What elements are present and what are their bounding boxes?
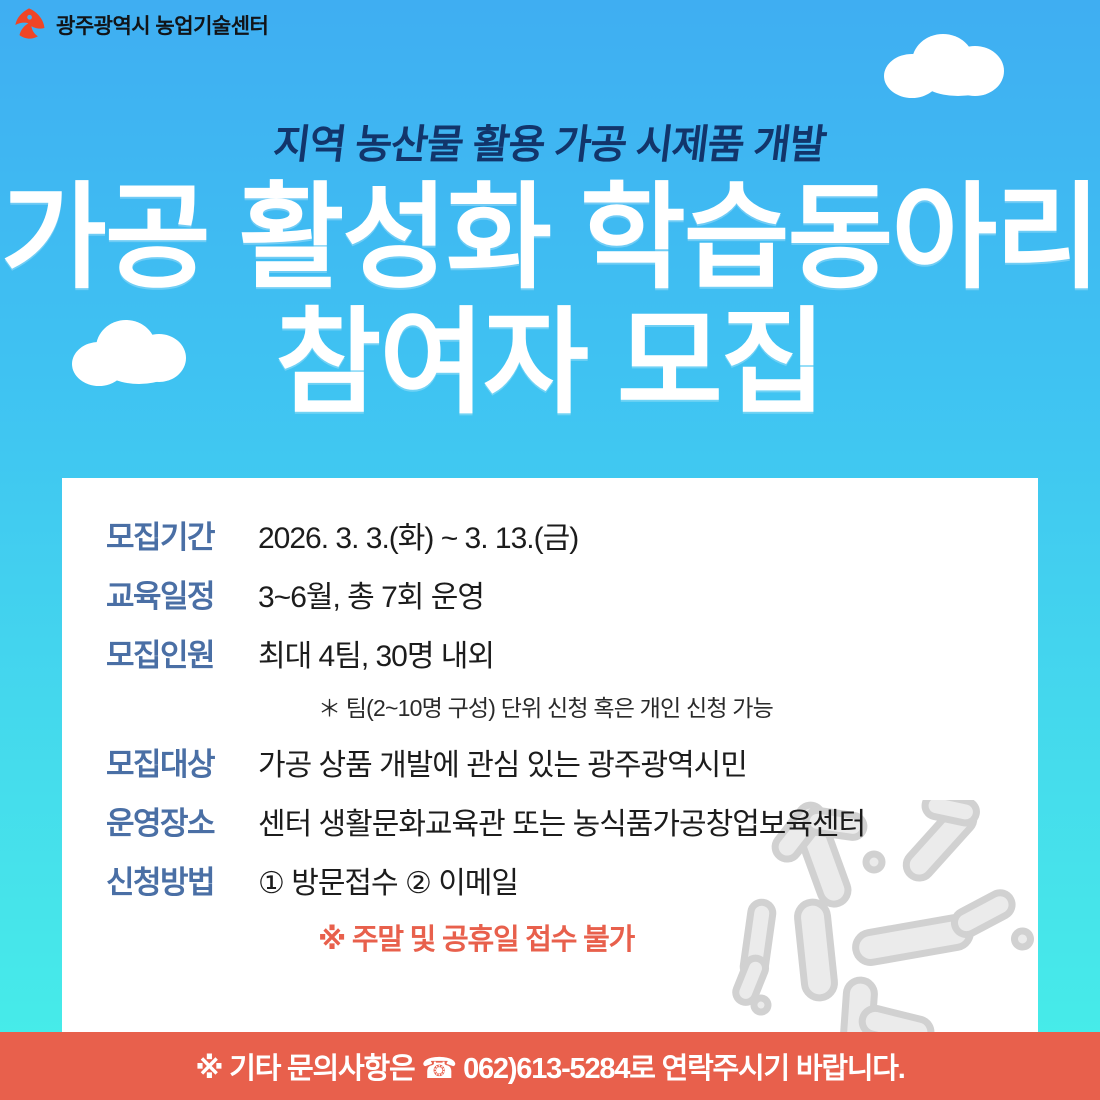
poster-canvas: 광주광역시 농업기술센터 지역 농산물 활용 가공 시제품 개발 가공 활성화 … [0, 0, 1100, 1100]
info-row-target: 모집대상 가공 상품 개발에 관심 있는 광주광역시민 [62, 739, 1038, 784]
info-rows: 모집기간 2026. 3. 3.(화) ~ 3. 13.(금) 교육일정 3~6… [62, 478, 1038, 958]
brand-header: 광주광역시 농업기술센터 [10, 6, 268, 44]
info-label: 모집인원 [106, 630, 258, 675]
info-row-education-schedule: 교육일정 3~6월, 총 7회 운영 [62, 571, 1038, 616]
info-value: 센터 생활문화교육관 또는 농식품가공창업보육센터 [258, 799, 865, 843]
info-warning: ※ 주말 및 공휴일 접수 불가 [62, 916, 1038, 958]
footer-contact-text: ※ 기타 문의사항은 ☎ 062)613-5284로 연락주시기 바랍니다. [195, 1045, 904, 1087]
gwangju-agricultural-center-logo-icon [10, 6, 48, 44]
info-label: 신청방법 [106, 857, 258, 902]
organization-name: 광주광역시 농업기술센터 [56, 10, 268, 40]
info-value: ① 방문접수 ② 이메일 [258, 858, 518, 902]
info-value: 가공 상품 개발에 관심 있는 광주광역시민 [258, 740, 747, 784]
info-row-recruit-period: 모집기간 2026. 3. 3.(화) ~ 3. 13.(금) [62, 512, 1038, 557]
cloud-icon-top-right [884, 32, 1034, 94]
hero-title-line-1: 가공 활성화 학습동아리 [0, 178, 1100, 299]
info-value: 최대 4팀, 30명 내외 [258, 631, 494, 675]
hero-title: 가공 활성화 학습동아리 참여자 모집 [0, 178, 1100, 424]
info-label: 모집대상 [106, 739, 258, 784]
info-label: 운영장소 [106, 798, 258, 843]
info-label: 모집기간 [106, 512, 258, 557]
info-row-recruit-count: 모집인원 최대 4팀, 30명 내외 [62, 630, 1038, 675]
info-row-venue: 운영장소 센터 생활문화교육관 또는 농식품가공창업보육센터 [62, 798, 1038, 843]
info-panel: 모집기간 2026. 3. 3.(화) ~ 3. 13.(금) 교육일정 3~6… [62, 478, 1038, 1032]
footer-contact-bar: ※ 기타 문의사항은 ☎ 062)613-5284로 연락주시기 바랍니다. [0, 1032, 1100, 1100]
hero-title-line-2: 참여자 모집 [0, 303, 1100, 424]
hero-subtitle: 지역 농산물 활용 가공 시제품 개발 [0, 112, 1100, 170]
info-label: 교육일정 [106, 571, 258, 616]
info-note: ＊ 팀(2~10명 구성) 단위 신청 혹은 개인 신청 가능 [62, 689, 1038, 723]
info-value: 2026. 3. 3.(화) ~ 3. 13.(금) [258, 513, 578, 557]
info-row-apply-method: 신청방법 ① 방문접수 ② 이메일 [62, 857, 1038, 902]
info-value: 3~6월, 총 7회 운영 [258, 572, 484, 616]
